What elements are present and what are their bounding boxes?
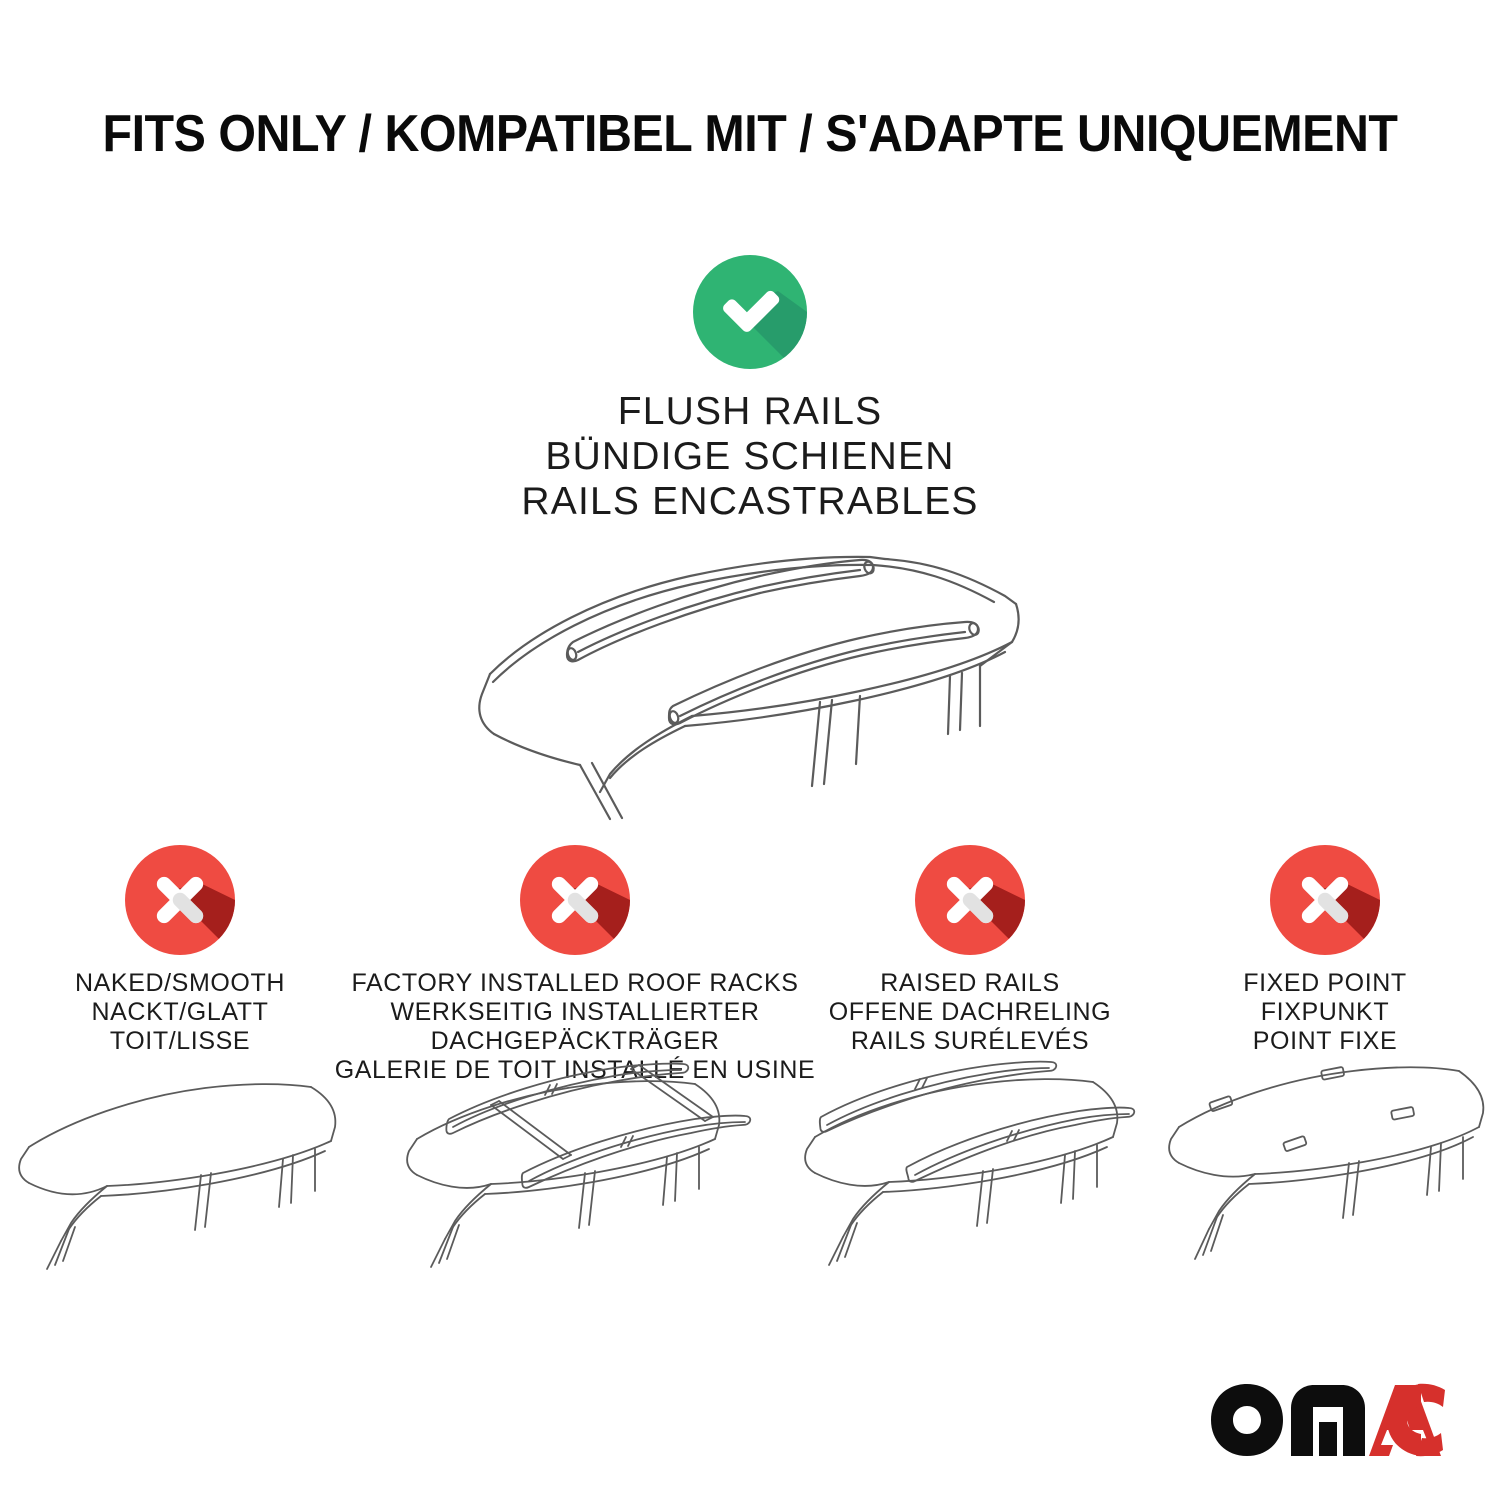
x-circle-icon: [915, 845, 1025, 955]
option-label-en: NAKED/SMOOTH: [75, 969, 285, 998]
option-label-de-1: WERKSEITIG INSTALLIERTER: [335, 998, 816, 1027]
check-circle-icon: [693, 255, 807, 369]
car-roof-raised-rails-illustration: [780, 1055, 1160, 1285]
car-roof-flush-rails-illustration: [0, 534, 1500, 824]
page-title: FITS ONLY / KOMPATIBEL MIT / S'ADAPTE UN…: [53, 104, 1448, 164]
option-label-de: NACKT/GLATT: [75, 998, 285, 1027]
compatible-label-fr: RAILS ENCASTRABLES: [0, 479, 1500, 524]
omac-logo: OMAC: [1209, 1382, 1445, 1458]
incompatible-options-row: NAKED/SMOOTH NACKT/GLATT TOIT/LISSE FACT…: [0, 845, 1500, 1085]
option-label-en: RAISED RAILS: [829, 969, 1111, 998]
compatible-label-de: BÜNDIGE SCHIENEN: [0, 434, 1500, 479]
option-caption: FIXED POINT FIXPUNKT POINT FIXE: [1243, 969, 1407, 1056]
option-raised-rails: RAISED RAILS OFFENE DACHRELING RAILS SUR…: [790, 845, 1150, 1056]
option-caption: RAISED RAILS OFFENE DACHRELING RAILS SUR…: [829, 969, 1111, 1056]
option-label-de-2: DACHGEPÄCKTRÄGER: [335, 1027, 816, 1056]
compatible-caption: FLUSH RAILS BÜNDIGE SCHIENEN RAILS ENCAS…: [0, 389, 1500, 524]
option-label-en: FACTORY INSTALLED ROOF RACKS: [335, 969, 816, 998]
car-roof-fixed-point-illustration: [1160, 1055, 1500, 1285]
incompatible-illustrations-row: [0, 1055, 1500, 1285]
compatible-section: FLUSH RAILS BÜNDIGE SCHIENEN RAILS ENCAS…: [0, 255, 1500, 824]
compatible-icon-wrap: [0, 255, 1500, 369]
option-label-fr: TOIT/LISSE: [75, 1027, 285, 1056]
car-roof-factory-roof-racks-illustration: [380, 1055, 780, 1285]
omac-logo-mark: [1209, 1382, 1445, 1458]
option-label-fr: POINT FIXE: [1243, 1027, 1407, 1056]
option-label-en: FIXED POINT: [1243, 969, 1407, 998]
option-label-fr: RAILS SURÉLEVÉS: [829, 1027, 1111, 1056]
x-circle-icon: [1270, 845, 1380, 955]
option-caption: NAKED/SMOOTH NACKT/GLATT TOIT/LISSE: [75, 969, 285, 1056]
option-fixed-point: FIXED POINT FIXPUNKT POINT FIXE: [1150, 845, 1500, 1056]
car-roof-naked-smooth-illustration: [0, 1055, 380, 1285]
option-naked-smooth: NAKED/SMOOTH NACKT/GLATT TOIT/LISSE: [0, 845, 360, 1056]
x-circle-icon: [125, 845, 235, 955]
compatible-label-en: FLUSH RAILS: [0, 389, 1500, 434]
option-factory-roof-racks: FACTORY INSTALLED ROOF RACKS WERKSEITIG …: [360, 845, 790, 1085]
option-label-de: OFFENE DACHRELING: [829, 998, 1111, 1027]
option-label-de: FIXPUNKT: [1243, 998, 1407, 1027]
x-circle-icon: [520, 845, 630, 955]
